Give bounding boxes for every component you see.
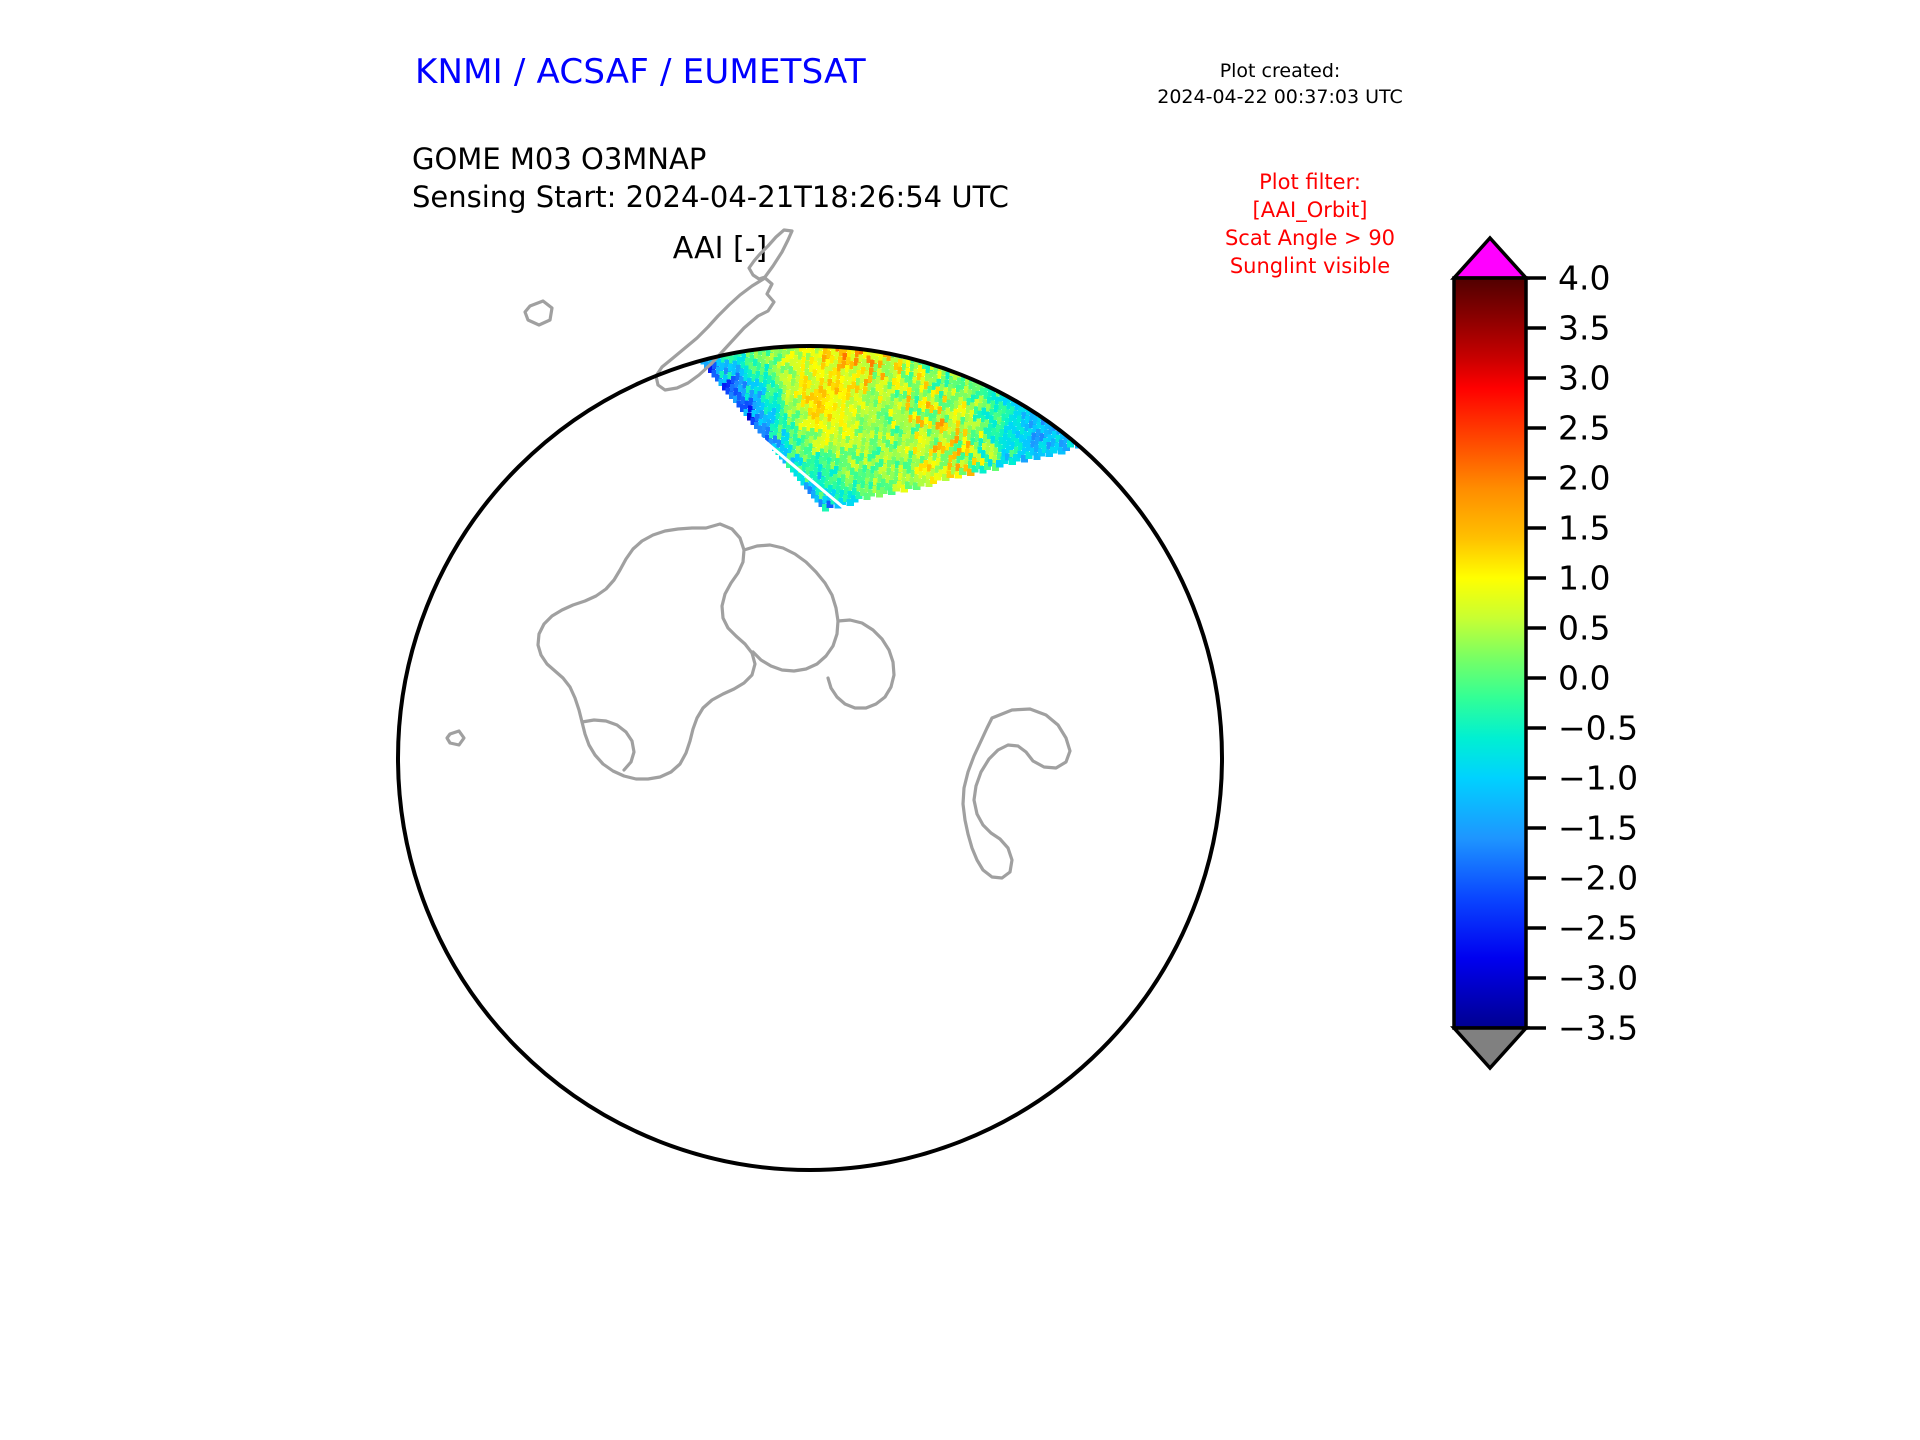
- plot-page: KNMI / ACSAF / EUMETSAT Plot created: 20…: [0, 0, 1920, 1440]
- aai-data-swath: [665, 228, 1095, 513]
- colorbar-under-arrow: [1454, 1028, 1526, 1068]
- filter-line-1: Plot filter:: [1175, 168, 1445, 196]
- plot-created-label: Plot created:: [1120, 58, 1440, 84]
- polar-map-area: [340, 228, 1390, 1288]
- colorbar-tick-label: −1.0: [1558, 762, 1638, 795]
- colorbar-tick-label: −1.5: [1558, 812, 1638, 845]
- sensing-start-line: Sensing Start: 2024-04-21T18:26:54 UTC: [412, 178, 1009, 216]
- colorbar-svg: [1440, 228, 1840, 1308]
- colorbar-tick-label: 0.5: [1558, 612, 1610, 645]
- colorbar-tick-label: 4.0: [1558, 262, 1610, 295]
- coast-new-zealand-north: [749, 230, 792, 279]
- instrument-product-line: GOME M03 O3MNAP: [412, 140, 1009, 178]
- colorbar-tick-label: 2.0: [1558, 462, 1610, 495]
- colorbar-tick-label: −2.0: [1558, 862, 1638, 895]
- colorbar-tick-label: −3.0: [1558, 962, 1638, 995]
- coast-antarctica: [538, 524, 838, 779]
- colorbar-tick-label: 2.5: [1558, 412, 1610, 445]
- filter-line-2: [AAI_Orbit]: [1175, 196, 1445, 224]
- colorbar-over-arrow: [1454, 238, 1526, 278]
- colorbar-tick-label: 0.0: [1558, 662, 1610, 695]
- polar-map-svg: [340, 228, 1390, 1288]
- colorbar-gradient-bar: [1454, 278, 1526, 1028]
- colorbar-tick-label: −2.5: [1558, 912, 1638, 945]
- colorbar-tick-label: 3.0: [1558, 362, 1610, 395]
- colorbar-tick-marks: [1526, 278, 1546, 1028]
- coastline-group: [447, 230, 1070, 878]
- plot-created-timestamp: 2024-04-22 00:37:03 UTC: [1120, 84, 1440, 110]
- coast-south-america-tip: [963, 709, 1070, 878]
- colorbar-tick-label: 3.5: [1558, 312, 1610, 345]
- dataset-info-block: GOME M03 O3MNAP Sensing Start: 2024-04-2…: [412, 140, 1009, 217]
- coast-island-small-west: [525, 301, 552, 325]
- colorbar-tick-label: −3.5: [1558, 1012, 1638, 1045]
- coast-island-tiny: [447, 731, 464, 745]
- colorbar-area: 4.03.53.02.52.01.51.00.50.0−0.5−1.0−1.5−…: [1440, 228, 1840, 1308]
- plot-created-block: Plot created: 2024-04-22 00:37:03 UTC: [1120, 58, 1440, 110]
- colorbar-tick-label: 1.0: [1558, 562, 1610, 595]
- colorbar-tick-label: 1.5: [1558, 512, 1610, 545]
- colorbar-tick-label: −0.5: [1558, 712, 1638, 745]
- organization-title: KNMI / ACSAF / EUMETSAT: [415, 52, 866, 92]
